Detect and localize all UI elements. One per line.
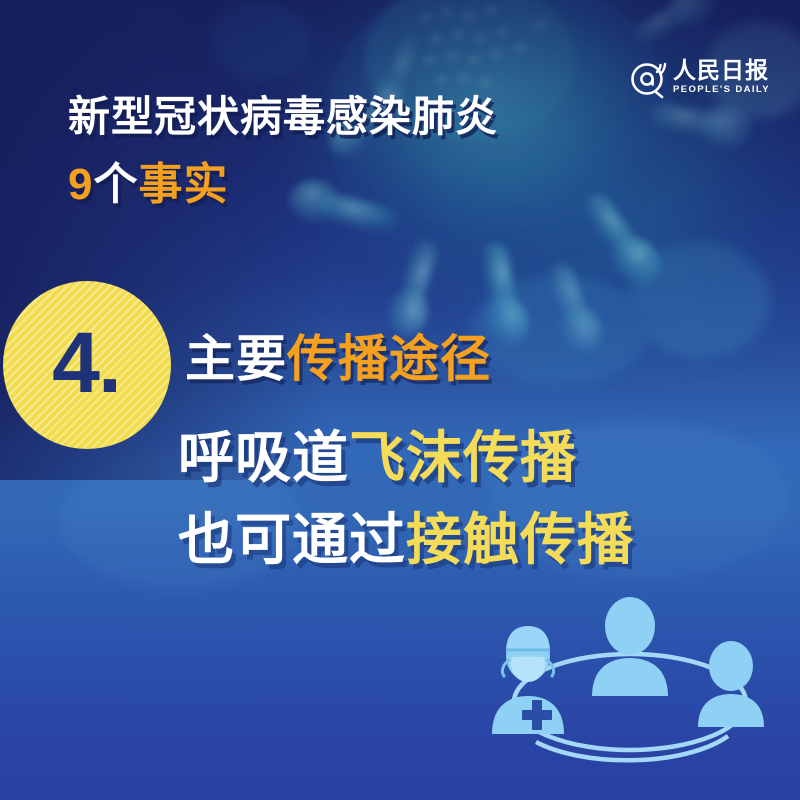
logo-name-en: PEOPLE'S DAILY xyxy=(673,85,770,95)
fact-number-badge: 4. xyxy=(3,281,171,449)
surgical-cap-icon xyxy=(506,626,550,652)
fact-3-part-2: 接触传播 xyxy=(406,508,634,571)
logo-name-cn: 人民日报 xyxy=(673,59,769,82)
subtitle-measure-word: 个 xyxy=(93,160,138,209)
fact-2-part-2: 飞沫传播 xyxy=(349,426,577,489)
fact-line-3: 也可通过接触传播 xyxy=(178,512,634,568)
transmission-people-diagram xyxy=(470,594,790,784)
medical-worker-icon xyxy=(492,626,564,734)
fact-1-part-1: 主要 xyxy=(185,331,287,387)
fact-number: 4. xyxy=(52,320,120,406)
publisher-logo: 人民日报 PEOPLE'S DAILY xyxy=(629,58,770,96)
fact-3-part-1: 也可通过 xyxy=(178,508,406,571)
fact-1-part-2: 传播途径 xyxy=(287,331,491,387)
page-subtitle: 9个事实 xyxy=(68,163,228,207)
fact-line-1: 主要传播途径 xyxy=(185,334,491,384)
page-title: 新型冠状病毒感染肺炎 xyxy=(68,96,498,138)
poster-root: 人民日报 PEOPLE'S DAILY 新型冠状病毒感染肺炎 9个事实 4. 主… xyxy=(0,0,800,800)
at-signal-icon xyxy=(629,58,667,96)
fact-2-part-1: 呼吸道 xyxy=(178,426,349,489)
person-icon-center xyxy=(592,597,668,696)
person-icon-right xyxy=(698,641,764,727)
subtitle-noun: 事实 xyxy=(138,160,228,209)
fact-line-2: 呼吸道飞沫传播 xyxy=(178,430,577,486)
face-mask-icon xyxy=(510,657,546,683)
subtitle-count: 9 xyxy=(68,160,93,209)
